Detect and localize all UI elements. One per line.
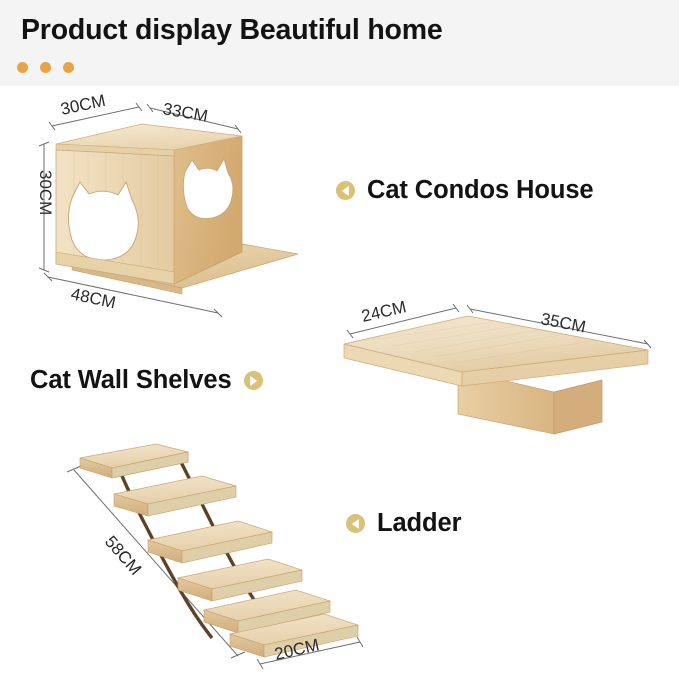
header-dot-3 — [63, 62, 74, 73]
arrow-right-icon[interactable] — [244, 371, 263, 390]
product-label-ladder: Ladder — [346, 509, 461, 538]
header-dot-1 — [17, 62, 28, 73]
product-label-cat-wall-shelves: Cat Wall Shelves — [30, 366, 263, 395]
cat-condos-house-illustration: 30CM 33CM 30CM — [22, 92, 302, 327]
dimension-width-33cm-text: 33CM — [161, 99, 209, 126]
condo-front-cat-cutout — [69, 182, 139, 260]
shelf-bracket-front — [554, 380, 602, 434]
arrow-left-icon[interactable] — [336, 181, 355, 200]
ladder-slat-1 — [80, 444, 188, 478]
product-label-cat-condos-house: Cat Condos House — [336, 176, 594, 205]
product-label-text: Cat Condos House — [367, 176, 594, 205]
page-title: Product display Beautiful home — [21, 14, 443, 47]
dimension-length-48cm-text: 48CM — [69, 284, 117, 312]
header-dots — [17, 62, 74, 73]
condo-right-cat-cutout — [183, 159, 233, 219]
ladder-slat-3 — [148, 521, 272, 563]
product-label-text: Cat Wall Shelves — [30, 366, 232, 395]
cat-wall-shelves-illustration: 24CM 35CM — [330, 296, 660, 446]
dimension-height-30cm: 30CM — [36, 142, 55, 272]
product-label-text: Ladder — [377, 509, 461, 538]
dimension-height-30cm-text: 30CM — [36, 170, 55, 215]
product-display-page: Product display Beautiful home — [0, 0, 679, 679]
arrow-left-icon[interactable] — [346, 514, 365, 533]
dimension-depth-30cm-text: 30CM — [59, 92, 107, 119]
ladder-illustration: 58CM — [52, 438, 382, 678]
ladder-slat-2 — [114, 476, 236, 516]
dimension-depth-30cm: 30CM — [49, 92, 142, 130]
dimension-length-58cm-text: 58CM — [101, 532, 145, 579]
header-dot-2 — [40, 62, 51, 73]
